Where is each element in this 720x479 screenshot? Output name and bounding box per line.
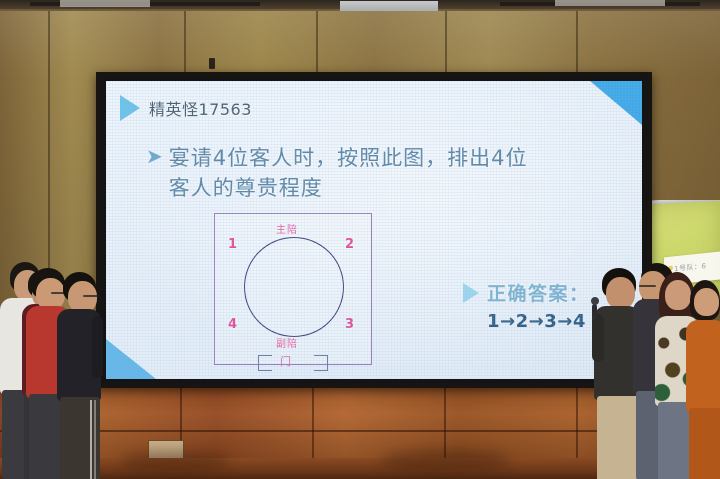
slide-title: 精英怪17563 — [149, 96, 252, 120]
diagram-seat-3: 3 — [345, 317, 354, 332]
head — [694, 288, 719, 316]
triangle-bullet-icon — [463, 283, 479, 303]
microphone-head-icon — [591, 297, 599, 305]
torso — [686, 320, 720, 412]
legs — [689, 408, 720, 479]
slide-corner-top-right-decoration — [590, 81, 642, 125]
head — [665, 280, 691, 310]
triangle-bullet-icon — [120, 95, 140, 121]
diagram-seat-4: 4 — [228, 317, 237, 332]
floor-shadow — [120, 452, 230, 472]
floor-shadow — [380, 450, 510, 472]
ceiling-panel-a — [60, 0, 150, 7]
door-bracket-right-icon — [314, 355, 328, 371]
ceiling-panel-b — [555, 0, 665, 6]
arm — [92, 316, 103, 378]
diagram-seat-1: 1 — [228, 237, 237, 252]
microphone-icon — [592, 304, 597, 320]
banquet-seating-diagram: 主陪 副陪 1 2 3 4 门 — [214, 213, 372, 365]
diagram-label-host: 主陪 — [276, 221, 298, 236]
diagram-label-door: 门 — [280, 353, 291, 369]
answer-sequence: 1→2→3→4 — [487, 311, 590, 332]
presentation-slide: 精英怪17563 ➤ 宴请4位客人时，按照此图，排出4位客人的尊贵程度 主陪 副… — [106, 81, 642, 379]
pant-stripe — [94, 400, 96, 479]
glasses-icon — [83, 295, 100, 297]
diagram-round-table — [244, 237, 344, 337]
legs — [597, 396, 639, 479]
diagram-seat-2: 2 — [345, 237, 354, 252]
door-bracket-left-icon — [258, 355, 272, 371]
answer-label: 正确答案： — [487, 279, 590, 306]
led-display-screen: 精英怪17563 ➤ 宴请4位客人时，按照此图，排出4位客人的尊贵程度 主陪 副… — [96, 72, 652, 388]
wall-outlet-icon — [209, 58, 215, 69]
arm — [592, 314, 604, 362]
slide-title-row: 精英怪17563 — [120, 95, 252, 121]
diagram-label-cohost: 副陪 — [276, 335, 298, 350]
slide-body: ➤ 宴请4位客人时，按照此图，排出4位客人的尊贵程度 — [146, 143, 546, 203]
pant-stripe — [90, 400, 92, 479]
arrow-bullet-icon: ➤ — [146, 143, 163, 203]
slide-body-text: 宴请4位客人时，按照此图，排出4位客人的尊贵程度 — [169, 143, 546, 203]
answer-label-row: 正确答案： — [463, 279, 590, 306]
glasses-icon — [639, 285, 656, 287]
head — [606, 277, 635, 309]
answer-block: 正确答案： 1→2→3→4 — [463, 279, 590, 332]
slide-corner-bottom-left-decoration — [106, 339, 156, 379]
presentation-room-photo: 1号队：6 精英怪17563 ➤ 宴请4位客人时，按照此图，排出4位客人的尊贵程… — [0, 0, 720, 479]
